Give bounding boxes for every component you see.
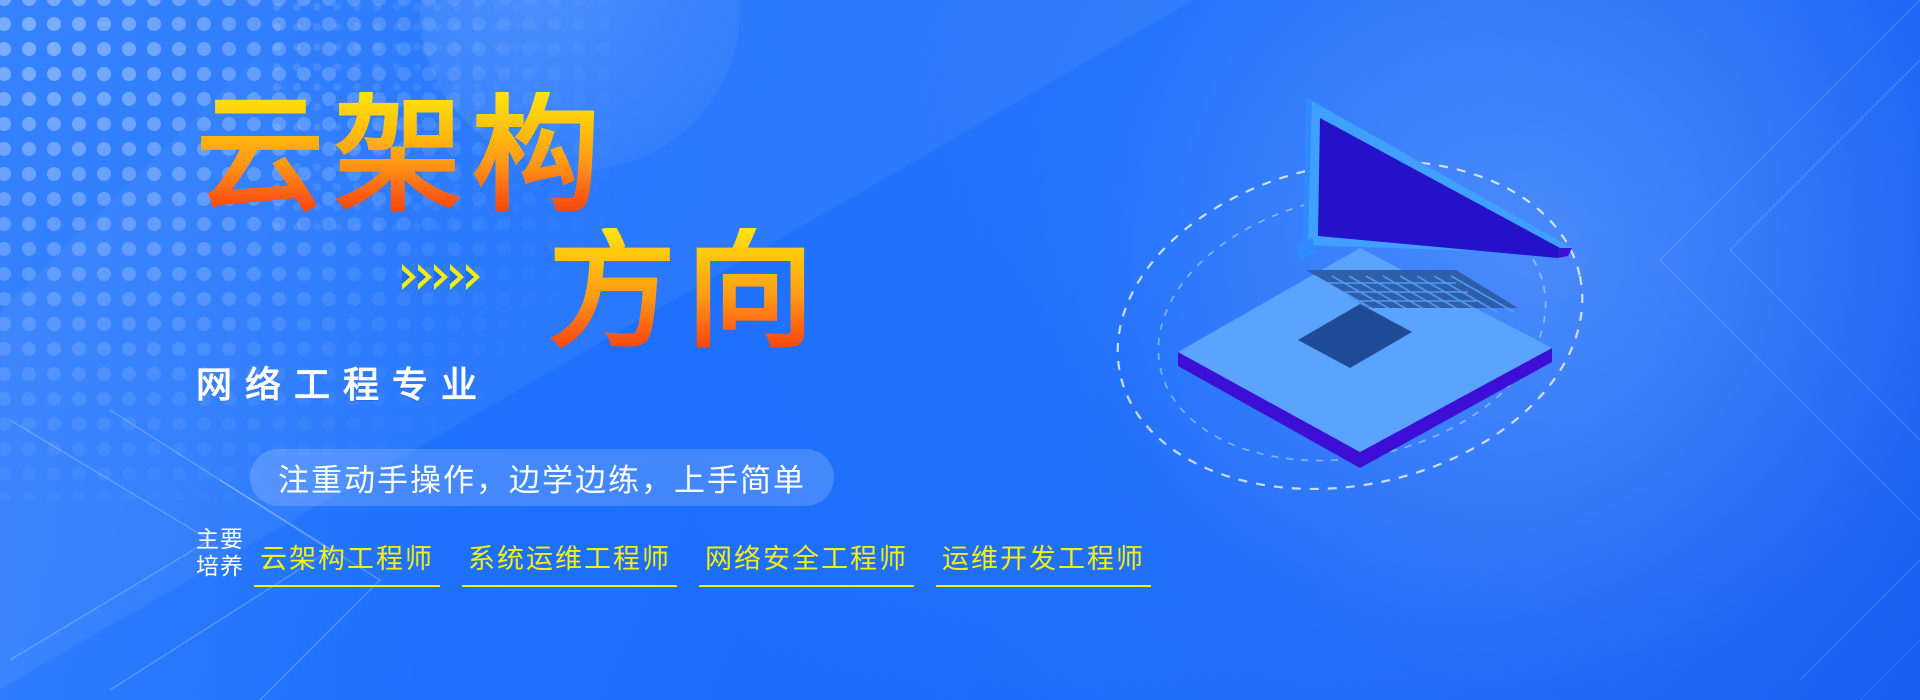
headline-line-2: 方向 xyxy=(196,228,824,356)
training-row: 主要 培养 云架构工程师 系统运维工程师 网络安全工程师 运维开发工程师 xyxy=(196,527,1151,587)
double-chevron-right-icon xyxy=(402,252,532,302)
job-item[interactable]: 系统运维工程师 xyxy=(462,537,677,587)
training-label-line-2: 培养 xyxy=(196,554,244,581)
tagline-pill: 注重动手操作，边学边练，上手简单 xyxy=(250,449,834,506)
training-label-line-1: 主要 xyxy=(196,527,244,554)
job-item[interactable]: 云架构工程师 xyxy=(254,537,440,587)
banner-copy: 云架构 方向 网络工程专业 注重动手操作，边学边练，上手简单 主要 培养 云架构… xyxy=(0,0,1100,700)
headline-text-primary: 云架构 xyxy=(196,92,610,220)
promo-banner: 云架构 方向 网络工程专业 注重动手操作，边学边练，上手简单 主要 培养 云架构… xyxy=(0,0,1920,700)
laptop-graphic xyxy=(1060,40,1620,560)
job-item[interactable]: 网络安全工程师 xyxy=(699,537,914,587)
job-list: 云架构工程师 系统运维工程师 网络安全工程师 运维开发工程师 xyxy=(254,537,1151,587)
headline-text-secondary: 方向 xyxy=(548,228,824,356)
laptop-screen xyxy=(1318,118,1560,258)
headline-line-1: 云架构 xyxy=(196,92,610,220)
laptop-illustration xyxy=(1060,40,1620,560)
major-subtitle: 网络工程专业 xyxy=(196,356,490,408)
training-label: 主要 培养 xyxy=(196,527,244,587)
